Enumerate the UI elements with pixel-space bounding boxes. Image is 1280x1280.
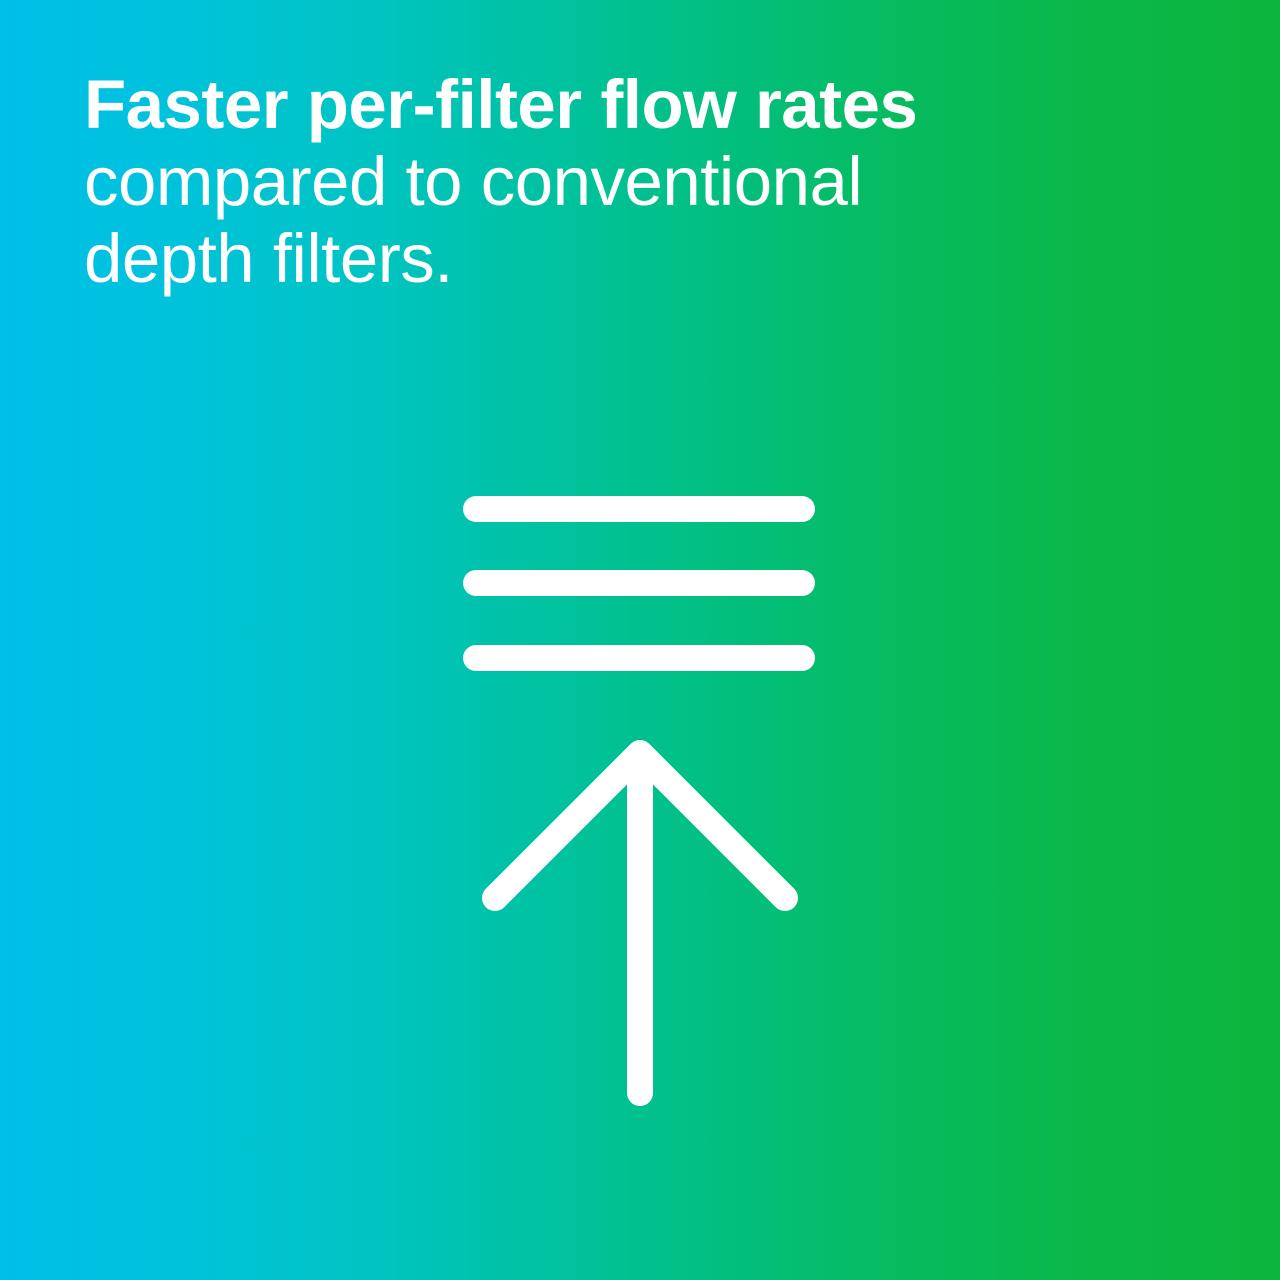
flow-through-filter-layers-up-arrow-icon [440, 470, 840, 1120]
headline: Faster per-filter flow rates compared to… [84, 66, 1084, 297]
headline-line-1: Faster per-filter flow rates [84, 66, 1084, 143]
slide-canvas: Faster per-filter flow rates compared to… [0, 0, 1280, 1280]
headline-line-2: compared to conventional [84, 143, 1084, 220]
headline-line-3: depth filters. [84, 220, 1084, 297]
